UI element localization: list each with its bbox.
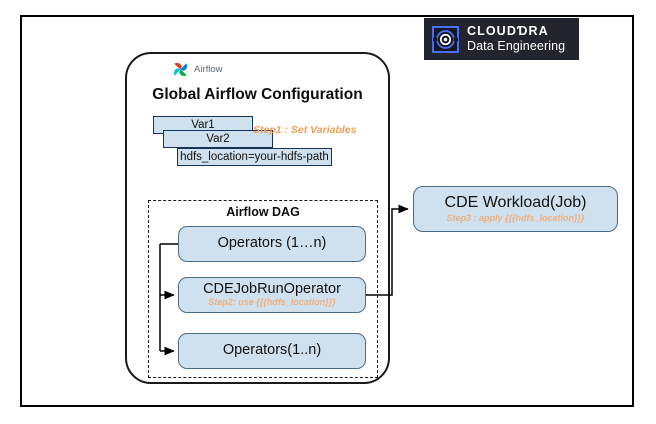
cde-workload-job-box: CDE Workload(Job) Step3 : apply {{{hdfs_… [413, 186, 618, 232]
dag-node-label: Operators(1..n) [223, 343, 321, 358]
step2-annotation: Step2: use {{{hdfs_location}}} [208, 298, 336, 307]
dag-node-operators-bottom: Operators(1..n) [178, 333, 366, 369]
step1-annotation: Step1 : Set Variables [253, 124, 357, 136]
cloudera-product-name: Data Engineering [467, 40, 565, 53]
dag-node-operators-top: Operators (1…n) [178, 226, 366, 262]
variable-box-hdfs-location: hdfs_location=your-hdfs-path [177, 148, 332, 166]
airflow-wordmark: Airflow [194, 64, 223, 75]
dag-node-label: Operators (1…n) [218, 236, 327, 251]
airflow-pinwheel-icon [170, 59, 191, 80]
cloudera-badge-text: CLOUDƊRA Data Engineering [467, 25, 565, 52]
diagram-canvas: CLOUDƊRA Data Engineering Airflow Global… [0, 0, 656, 424]
dag-node-cdejobrunoperator: CDEJobRunOperator Step2: use {{{hdfs_loc… [178, 277, 366, 313]
cloudera-logo-icon [432, 26, 459, 53]
airflow-brand: Airflow [170, 57, 250, 81]
step3-annotation: Step3 : apply {{{hdfs_location}}} [446, 214, 584, 223]
dag-node-label: CDEJobRunOperator [203, 282, 341, 297]
cde-workload-label: CDE Workload(Job) [445, 194, 587, 212]
cloudera-data-engineering-badge: CLOUDƊRA Data Engineering [424, 18, 579, 60]
airflow-dag-title: Airflow DAG [148, 205, 378, 219]
global-airflow-configuration-title: Global Airflow Configuration [125, 86, 390, 104]
cloudera-wordmark: CLOUDƊRA [467, 25, 565, 38]
